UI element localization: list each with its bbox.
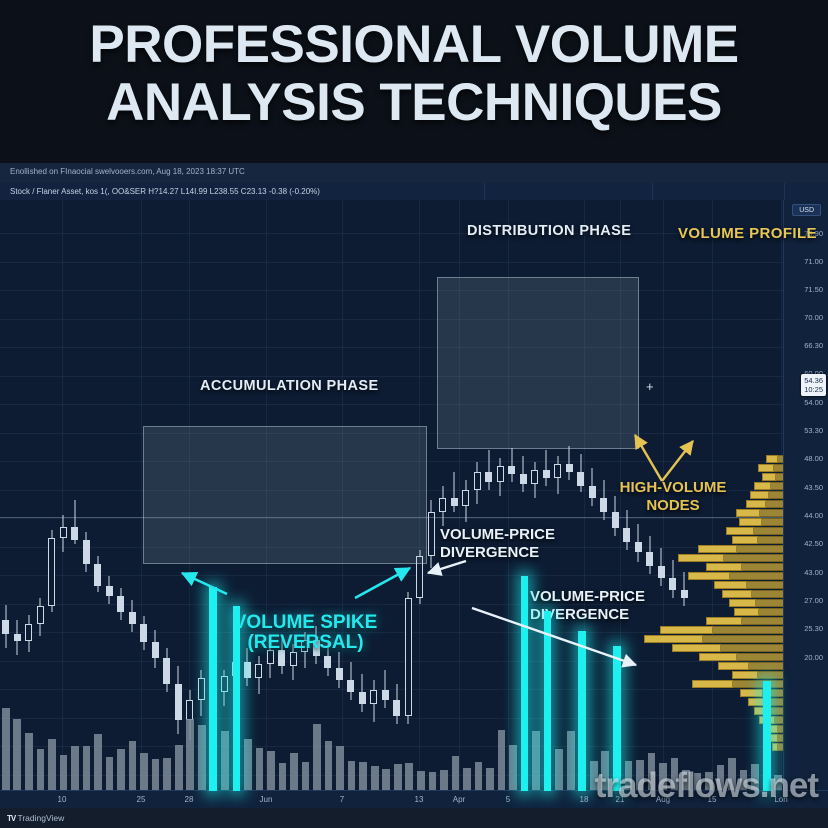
candlestick: [428, 200, 435, 791]
volume-bar: [175, 745, 183, 791]
chart-infobar[interactable]: Stock / Flaner Asset, kos 1(, OO&SER H?1…: [0, 183, 828, 201]
volume-spike-line-2: (REVERSAL): [233, 633, 378, 653]
volume-profile-row-background: [743, 662, 784, 670]
volume-bar: [429, 772, 437, 791]
price-tick: 53.30: [804, 426, 823, 435]
chart-topbar: Enollished on FInaocial swelvooers.com, …: [0, 163, 828, 183]
tradingview-mark: TV: [7, 814, 15, 823]
candle-body: [382, 690, 389, 700]
candle-body: [566, 464, 573, 472]
volume-bar-highlighted: [209, 587, 217, 791]
volume-profile-row: [772, 743, 778, 751]
price-tick: 20.00: [804, 653, 823, 662]
volume-profile-row: [726, 527, 754, 535]
current-price-tag: 54.36 10:25: [801, 374, 826, 396]
candle-body: [497, 466, 504, 482]
candlestick: [106, 200, 113, 791]
volume-profile-row: [644, 635, 703, 643]
volume-profile-row-background: [736, 617, 784, 625]
volume-bar: [60, 755, 68, 791]
hvn-line-2: NODES: [618, 497, 728, 515]
volume-profile-row: [732, 536, 758, 544]
volume-bar: [94, 734, 102, 791]
candle-body: [106, 586, 113, 596]
candle-body: [25, 624, 32, 641]
candle-wick: [511, 448, 512, 482]
price-tick: 70.00: [804, 313, 823, 322]
volume-profile-row: [692, 680, 733, 688]
candle-body: [14, 634, 21, 641]
candle-body: [290, 652, 297, 666]
candle-body: [152, 642, 159, 658]
volume-bar: [486, 768, 494, 791]
candle-body: [543, 470, 550, 478]
title-line-1: PROFESSIONAL VOLUME: [0, 16, 828, 74]
candle-body: [508, 466, 515, 474]
candle-body: [221, 676, 228, 692]
accumulation-phase-box: [143, 426, 427, 564]
candle-body: [474, 472, 481, 490]
hvn-line-1: HIGH-VOLUME: [618, 479, 728, 497]
gridline-horizontal: [0, 746, 828, 747]
volume-bar: [440, 770, 448, 791]
divergence-annotation-1: VOLUME-PRICE DIVERGENCE: [440, 526, 570, 562]
volume-bar: [71, 746, 79, 791]
volume-bar: [279, 763, 287, 791]
volume-bar: [463, 768, 471, 791]
volume-bar: [140, 753, 148, 791]
volume-spike-line-1: VOLUME SPIKE: [233, 613, 378, 633]
volume-profile-row-background: [727, 680, 784, 688]
volume-bar: [83, 746, 91, 791]
volume-bar: [452, 756, 460, 791]
volume-profile-title: VOLUME PROFILE: [678, 225, 817, 242]
volume-profile-row: [740, 689, 763, 697]
divergence-2-line-1: VOLUME-PRICE: [530, 588, 660, 606]
volume-bar: [348, 761, 356, 791]
volume-bar: [152, 759, 160, 791]
candle-body: [600, 498, 607, 512]
accumulation-phase-label: ACCUMULATION PHASE: [200, 378, 379, 394]
volume-bar: [117, 749, 125, 791]
price-tick: 54.00: [804, 398, 823, 407]
volume-profile-row: [706, 563, 742, 571]
candlestick: [94, 200, 101, 791]
volume-profile-row-background: [718, 554, 784, 562]
infobar-divider-2: [652, 183, 653, 200]
price-tick: 48.00: [804, 454, 823, 463]
volume-profile-row: [688, 572, 730, 580]
candle-body: [347, 680, 354, 692]
volume-profile-row: [734, 608, 759, 616]
price-tick: 43.50: [804, 483, 823, 492]
candle-body: [577, 472, 584, 486]
candle-body: [60, 527, 67, 538]
price-tick: 71.50: [804, 285, 823, 294]
volume-bar: [509, 745, 517, 791]
candle-body: [635, 542, 642, 552]
volume-profile-row-background: [724, 572, 784, 580]
volume-profile-row: [660, 626, 713, 634]
infobar-divider-3: [784, 183, 785, 200]
volume-profile-row-background: [731, 653, 784, 661]
time-tick: 18: [580, 795, 589, 804]
candle-body: [255, 664, 262, 678]
volume-profile-row: [754, 482, 771, 490]
candle-body: [140, 624, 147, 642]
candle-body: [623, 528, 630, 542]
candle-body: [37, 606, 44, 624]
volume-bar: [37, 749, 45, 791]
price-tick: 25.30: [804, 624, 823, 633]
candle-body: [198, 678, 205, 700]
volume-profile-row: [706, 617, 742, 625]
gridline-horizontal: [0, 718, 828, 719]
volume-bar: [475, 762, 483, 791]
candle-body: [531, 470, 538, 484]
volume-bar: [106, 757, 114, 791]
title-banner: PROFESSIONAL VOLUME ANALYSIS TECHNIQUES: [0, 0, 828, 163]
candle-body: [485, 472, 492, 482]
gridline-horizontal: [0, 376, 828, 377]
volume-profile-row-background: [741, 581, 784, 589]
candle-body: [370, 690, 377, 704]
gridline-horizontal: [0, 404, 828, 405]
currency-chip: USD: [792, 204, 821, 216]
volume-profile-row: [722, 590, 752, 598]
candle-wick: [488, 450, 489, 490]
volume-profile-row-background: [697, 635, 784, 643]
volume-bar: [244, 739, 252, 791]
divergence-1-line-2: DIVERGENCE: [440, 544, 570, 562]
price-tag-time: 10:25: [804, 385, 823, 394]
candle-body: [336, 668, 343, 680]
volume-bar: [371, 766, 379, 791]
volume-profile-row-background: [715, 644, 784, 652]
candlestick: [117, 200, 124, 791]
volume-bar: [48, 739, 56, 791]
distribution-phase-label: DISTRIBUTION PHASE: [467, 223, 631, 239]
volume-profile-row: [678, 554, 724, 562]
candlestick: [14, 200, 21, 791]
volume-profile-row: [698, 545, 737, 553]
candle-body: [439, 498, 446, 512]
divergence-1-line-1: VOLUME-PRICE: [440, 526, 570, 544]
candle-body: [186, 700, 193, 720]
candle-body: [48, 538, 55, 606]
gridline-horizontal: [0, 262, 828, 263]
volume-bar: [417, 771, 425, 791]
volume-spike-annotation: VOLUME SPIKE (REVERSAL): [233, 613, 378, 653]
high-volume-nodes-annotation: HIGH-VOLUME NODES: [618, 479, 728, 515]
time-tick: 7: [340, 795, 344, 804]
candlestick: [37, 200, 44, 791]
candlestick: [2, 200, 9, 791]
symbol-ohlc-line: Stock / Flaner Asset, kos 1(, OO&SER H?1…: [10, 187, 320, 196]
candle-body: [83, 540, 90, 564]
candlestick: [129, 200, 136, 791]
page-title: PROFESSIONAL VOLUME ANALYSIS TECHNIQUES: [0, 16, 828, 132]
time-tick: 13: [415, 795, 424, 804]
distribution-phase-box: [437, 277, 639, 449]
candle-body: [117, 596, 124, 612]
volume-profile-row-background: [731, 545, 784, 553]
candle-body: [554, 464, 561, 478]
candlestick: [71, 200, 78, 791]
volume-bar: [2, 708, 10, 791]
gridline-horizontal: [0, 604, 828, 605]
candlestick: [83, 200, 90, 791]
volume-bar: [394, 764, 402, 791]
chart-window: Enollished on FInaocial swelvooers.com, …: [0, 163, 828, 828]
candle-body: [681, 590, 688, 598]
gridline-horizontal: [0, 689, 828, 690]
candlestick: [25, 200, 32, 791]
time-tick: Apr: [453, 795, 465, 804]
candle-wick: [454, 472, 455, 512]
volume-profile-row: [736, 509, 760, 517]
candle-body: [646, 552, 653, 566]
volume-bar: [359, 762, 367, 791]
price-tick: 43.00: [804, 568, 823, 577]
volume-profile-row-background: [736, 563, 784, 571]
volume-bar-highlighted: [544, 611, 552, 791]
volume-profile-row: [766, 455, 778, 463]
volume-bar: [302, 762, 310, 791]
volume-bar: [129, 741, 137, 791]
candle-wick: [385, 670, 386, 708]
poster-root: PROFESSIONAL VOLUME ANALYSIS TECHNIQUES …: [0, 0, 828, 828]
candle-body: [71, 527, 78, 540]
price-axis[interactable]: USD 79.9071.0071.5070.0066.3060.0054.005…: [783, 200, 828, 791]
candle-wick: [684, 572, 685, 606]
candle-body: [324, 656, 331, 668]
volume-profile-row: [718, 662, 749, 670]
volume-profile-row: [714, 581, 747, 589]
candle-body: [2, 620, 9, 634]
candlestick: [60, 200, 67, 791]
candle-body: [129, 612, 136, 624]
chart-bottombar: TV TradingView: [0, 808, 828, 828]
candle-body: [163, 658, 170, 684]
volume-bar: [25, 733, 33, 791]
price-tick: 44.00: [804, 511, 823, 520]
volume-profile-row: [750, 491, 769, 499]
volume-bar: [313, 724, 321, 791]
volume-profile-row: [732, 671, 758, 679]
candle-body: [244, 662, 251, 678]
volume-bar: [532, 731, 540, 791]
volume-bar: [186, 719, 194, 791]
candle-body: [94, 564, 101, 586]
crosshair-marker: +: [646, 380, 654, 393]
infobar-divider-1: [484, 183, 485, 200]
candle-wick: [546, 450, 547, 486]
volume-bar: [221, 731, 229, 791]
volume-profile-row: [746, 500, 766, 508]
volume-bar: [405, 763, 413, 791]
volume-bar: [13, 719, 21, 791]
volume-bar: [336, 746, 344, 791]
time-tick: 25: [137, 795, 146, 804]
gridline-horizontal: [0, 347, 828, 348]
time-tick: 5: [506, 795, 510, 804]
volume-bar: [567, 731, 575, 791]
volume-bar: [382, 769, 390, 791]
volume-bar: [555, 749, 563, 791]
candle-body: [428, 512, 435, 556]
candle-body: [462, 490, 469, 506]
gridline-horizontal: [0, 661, 828, 662]
publisher-line: Enollished on FInaocial swelvooers.com, …: [10, 167, 245, 176]
candle-body: [175, 684, 182, 720]
candle-body: [669, 578, 676, 590]
time-tick: 10: [58, 795, 67, 804]
volume-bar: [290, 753, 298, 791]
time-tick: Jun: [260, 795, 273, 804]
tradingview-label: TradingView: [17, 813, 64, 823]
volume-profile-row-background: [707, 626, 784, 634]
candle-body: [589, 486, 596, 498]
volume-profile-row: [672, 644, 721, 652]
candle-body: [658, 566, 665, 578]
volume-bar-highlighted: [578, 631, 586, 791]
site-watermark: tradeflows.net: [595, 766, 818, 806]
candle-body: [405, 598, 412, 716]
candle-body: [359, 692, 366, 704]
gridline-horizontal: [0, 290, 828, 291]
volume-profile-row: [762, 473, 776, 481]
volume-bar-highlighted: [233, 606, 241, 791]
candle-wick: [569, 446, 570, 480]
candle-body: [393, 700, 400, 716]
candle-body: [451, 498, 458, 506]
volume-profile-row: [699, 653, 737, 661]
tradingview-logo[interactable]: TV TradingView: [7, 813, 64, 823]
volume-profile-row: [739, 518, 762, 526]
candle-body: [520, 474, 527, 484]
volume-bar: [325, 741, 333, 791]
volume-bar-highlighted: [521, 576, 529, 791]
price-tick: 42.50: [804, 539, 823, 548]
price-tag-value: 54.36: [804, 376, 823, 385]
volume-profile-row: [758, 464, 774, 472]
price-tick: 66.30: [804, 341, 823, 350]
price-tick: 27.00: [804, 596, 823, 605]
candlestick: [48, 200, 55, 791]
price-tick: 71.00: [804, 257, 823, 266]
gridline-horizontal: [0, 319, 828, 320]
volume-bar: [267, 751, 275, 791]
volume-bar: [198, 725, 206, 791]
title-line-2: ANALYSIS TECHNIQUES: [0, 74, 828, 132]
volume-bar: [498, 730, 506, 791]
volume-profile-row: [729, 599, 756, 607]
time-tick: 28: [185, 795, 194, 804]
volume-bar: [163, 758, 171, 791]
volume-bar: [256, 748, 264, 791]
